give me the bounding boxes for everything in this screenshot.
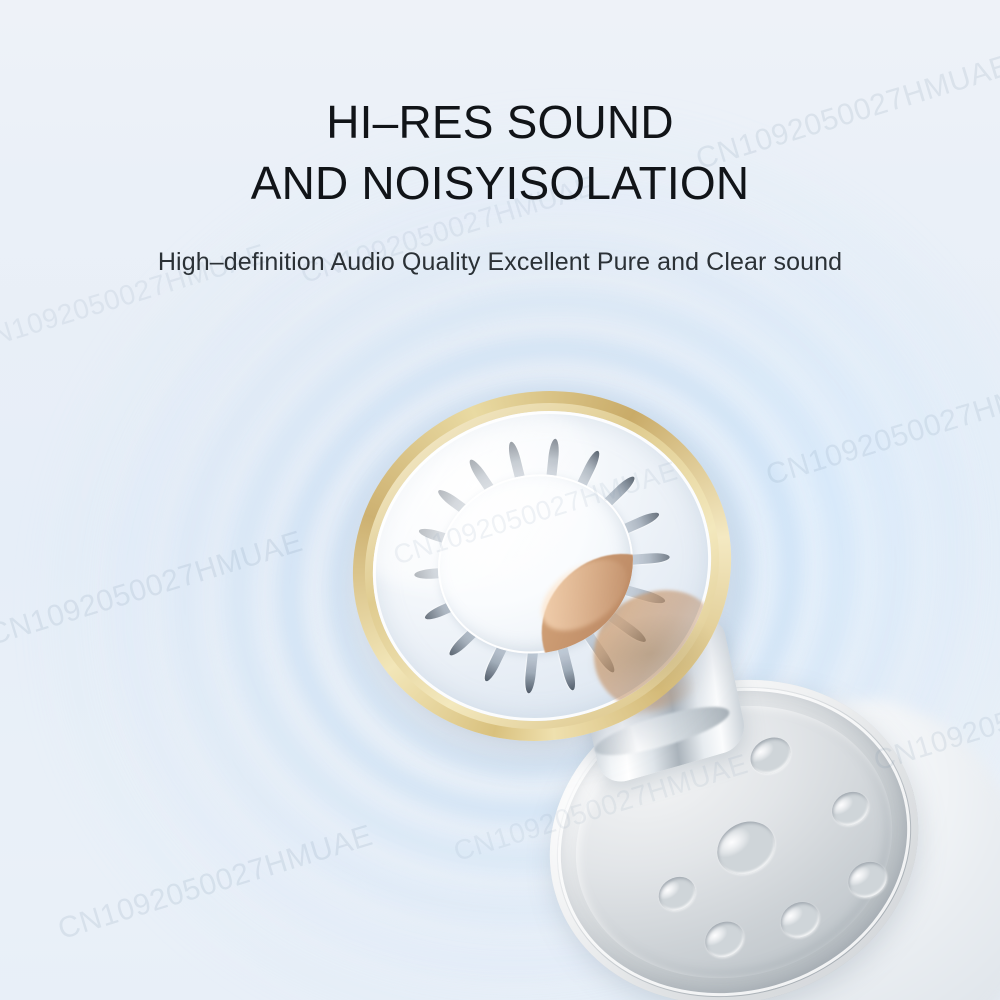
vent-hole	[699, 915, 751, 964]
headline-line-1: HI–RES SOUND	[0, 92, 1000, 153]
headline-line-2: AND NOISYISOLATION	[0, 153, 1000, 214]
vent-hole	[708, 811, 785, 884]
driver-diaphragm	[340, 375, 744, 756]
page-subtitle: High–definition Audio Quality Excellent …	[0, 248, 1000, 277]
page-title: HI–RES SOUND AND NOISYISOLATION	[0, 92, 1000, 213]
vent-hole	[744, 730, 797, 780]
product-banner: CN1092050027HMUAECN1092050027HMUAECN1092…	[0, 0, 1000, 1000]
vent-hole	[774, 895, 826, 944]
vent-hole	[826, 785, 875, 832]
vent-hole	[653, 870, 702, 917]
